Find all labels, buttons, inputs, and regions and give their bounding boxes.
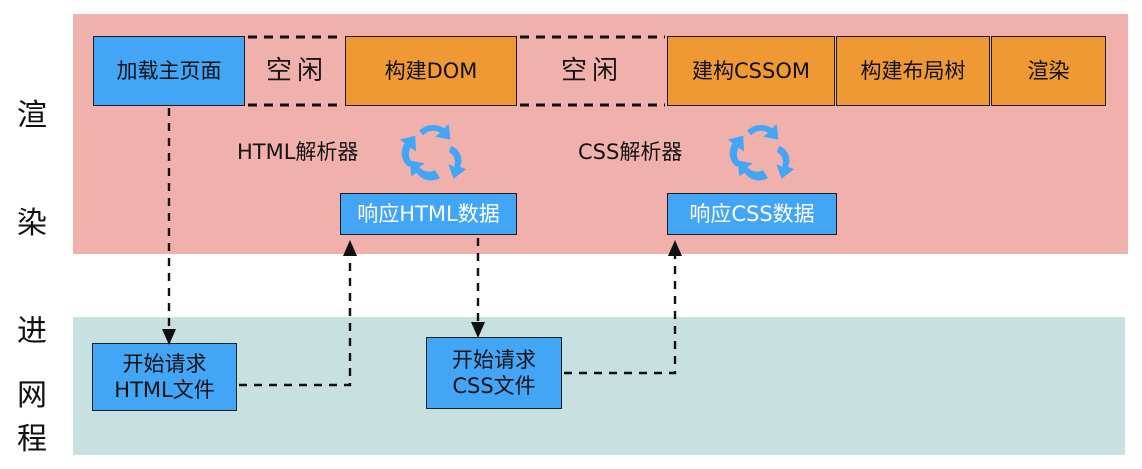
request-html-file-box[interactable]: 开始请求 HTML文件 bbox=[92, 343, 237, 411]
idle-slot-2: 空闲 bbox=[527, 45, 657, 97]
idle-slot-1: 空闲 bbox=[252, 45, 342, 97]
task-build-layout-tree[interactable]: 构建布局树 bbox=[836, 36, 990, 106]
network-label-char-1: 网 bbox=[6, 378, 58, 414]
css-parser-label: CSS解析器 bbox=[578, 140, 682, 165]
response-html-data-box[interactable]: 响应HTML数据 bbox=[340, 193, 517, 235]
html-parser-label: HTML解析器 bbox=[237, 140, 358, 165]
request-css-file-box[interactable]: 开始请求 CSS文件 bbox=[426, 337, 562, 409]
render-label-char-2: 染 bbox=[6, 206, 58, 242]
render-label-char-1: 渲 bbox=[6, 98, 58, 134]
diagram-canvas: 渲 染 进 程 网 络 进 程 加载主页面 空闲 构建DOM 空闲 建构CSSO… bbox=[0, 0, 1142, 469]
task-load-main-page[interactable]: 加载主页面 bbox=[93, 36, 245, 106]
network-process-label: 网 络 进 程 bbox=[6, 306, 58, 469]
task-paint[interactable]: 渲染 bbox=[991, 36, 1106, 106]
response-css-data-box[interactable]: 响应CSS数据 bbox=[667, 193, 837, 235]
task-build-cssom[interactable]: 建构CSSOM bbox=[667, 36, 835, 106]
task-build-dom[interactable]: 构建DOM bbox=[345, 36, 517, 106]
